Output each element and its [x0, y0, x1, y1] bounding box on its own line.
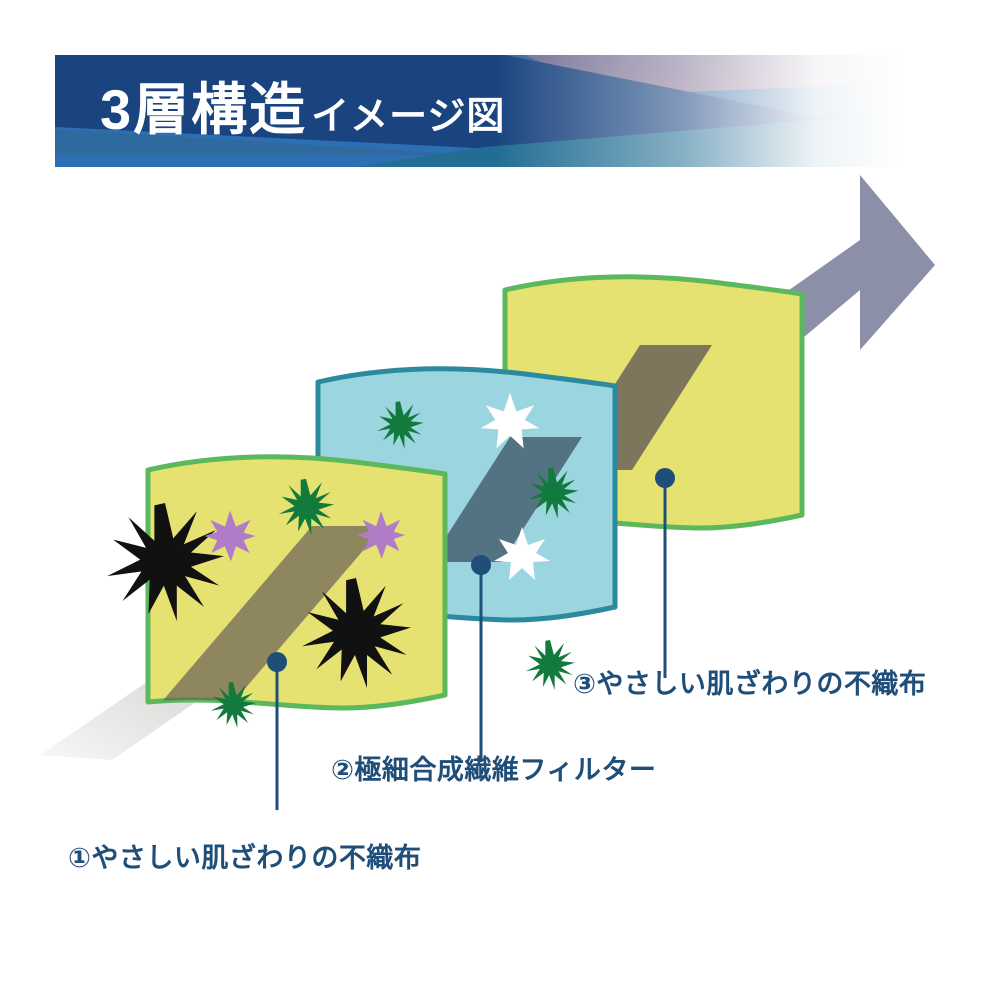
callout-label-1: ①やさしい肌ざわりの不織布 [68, 836, 421, 875]
particle-green-mid-2 [526, 640, 575, 690]
page-root: 3層構造 イメージ図 [0, 0, 1000, 1000]
three-layer-graphic [0, 170, 1000, 810]
three-layer-diagram [0, 170, 1000, 810]
header-banner-graphic [55, 55, 900, 167]
callout-label-3: ③やさしい肌ざわりの不織布 [573, 662, 926, 701]
banner-fade-overlay [55, 55, 900, 167]
header-banner: 3層構造 イメージ図 [55, 55, 900, 167]
callout-label-2: ②極細合成繊維フィルター [331, 748, 656, 787]
